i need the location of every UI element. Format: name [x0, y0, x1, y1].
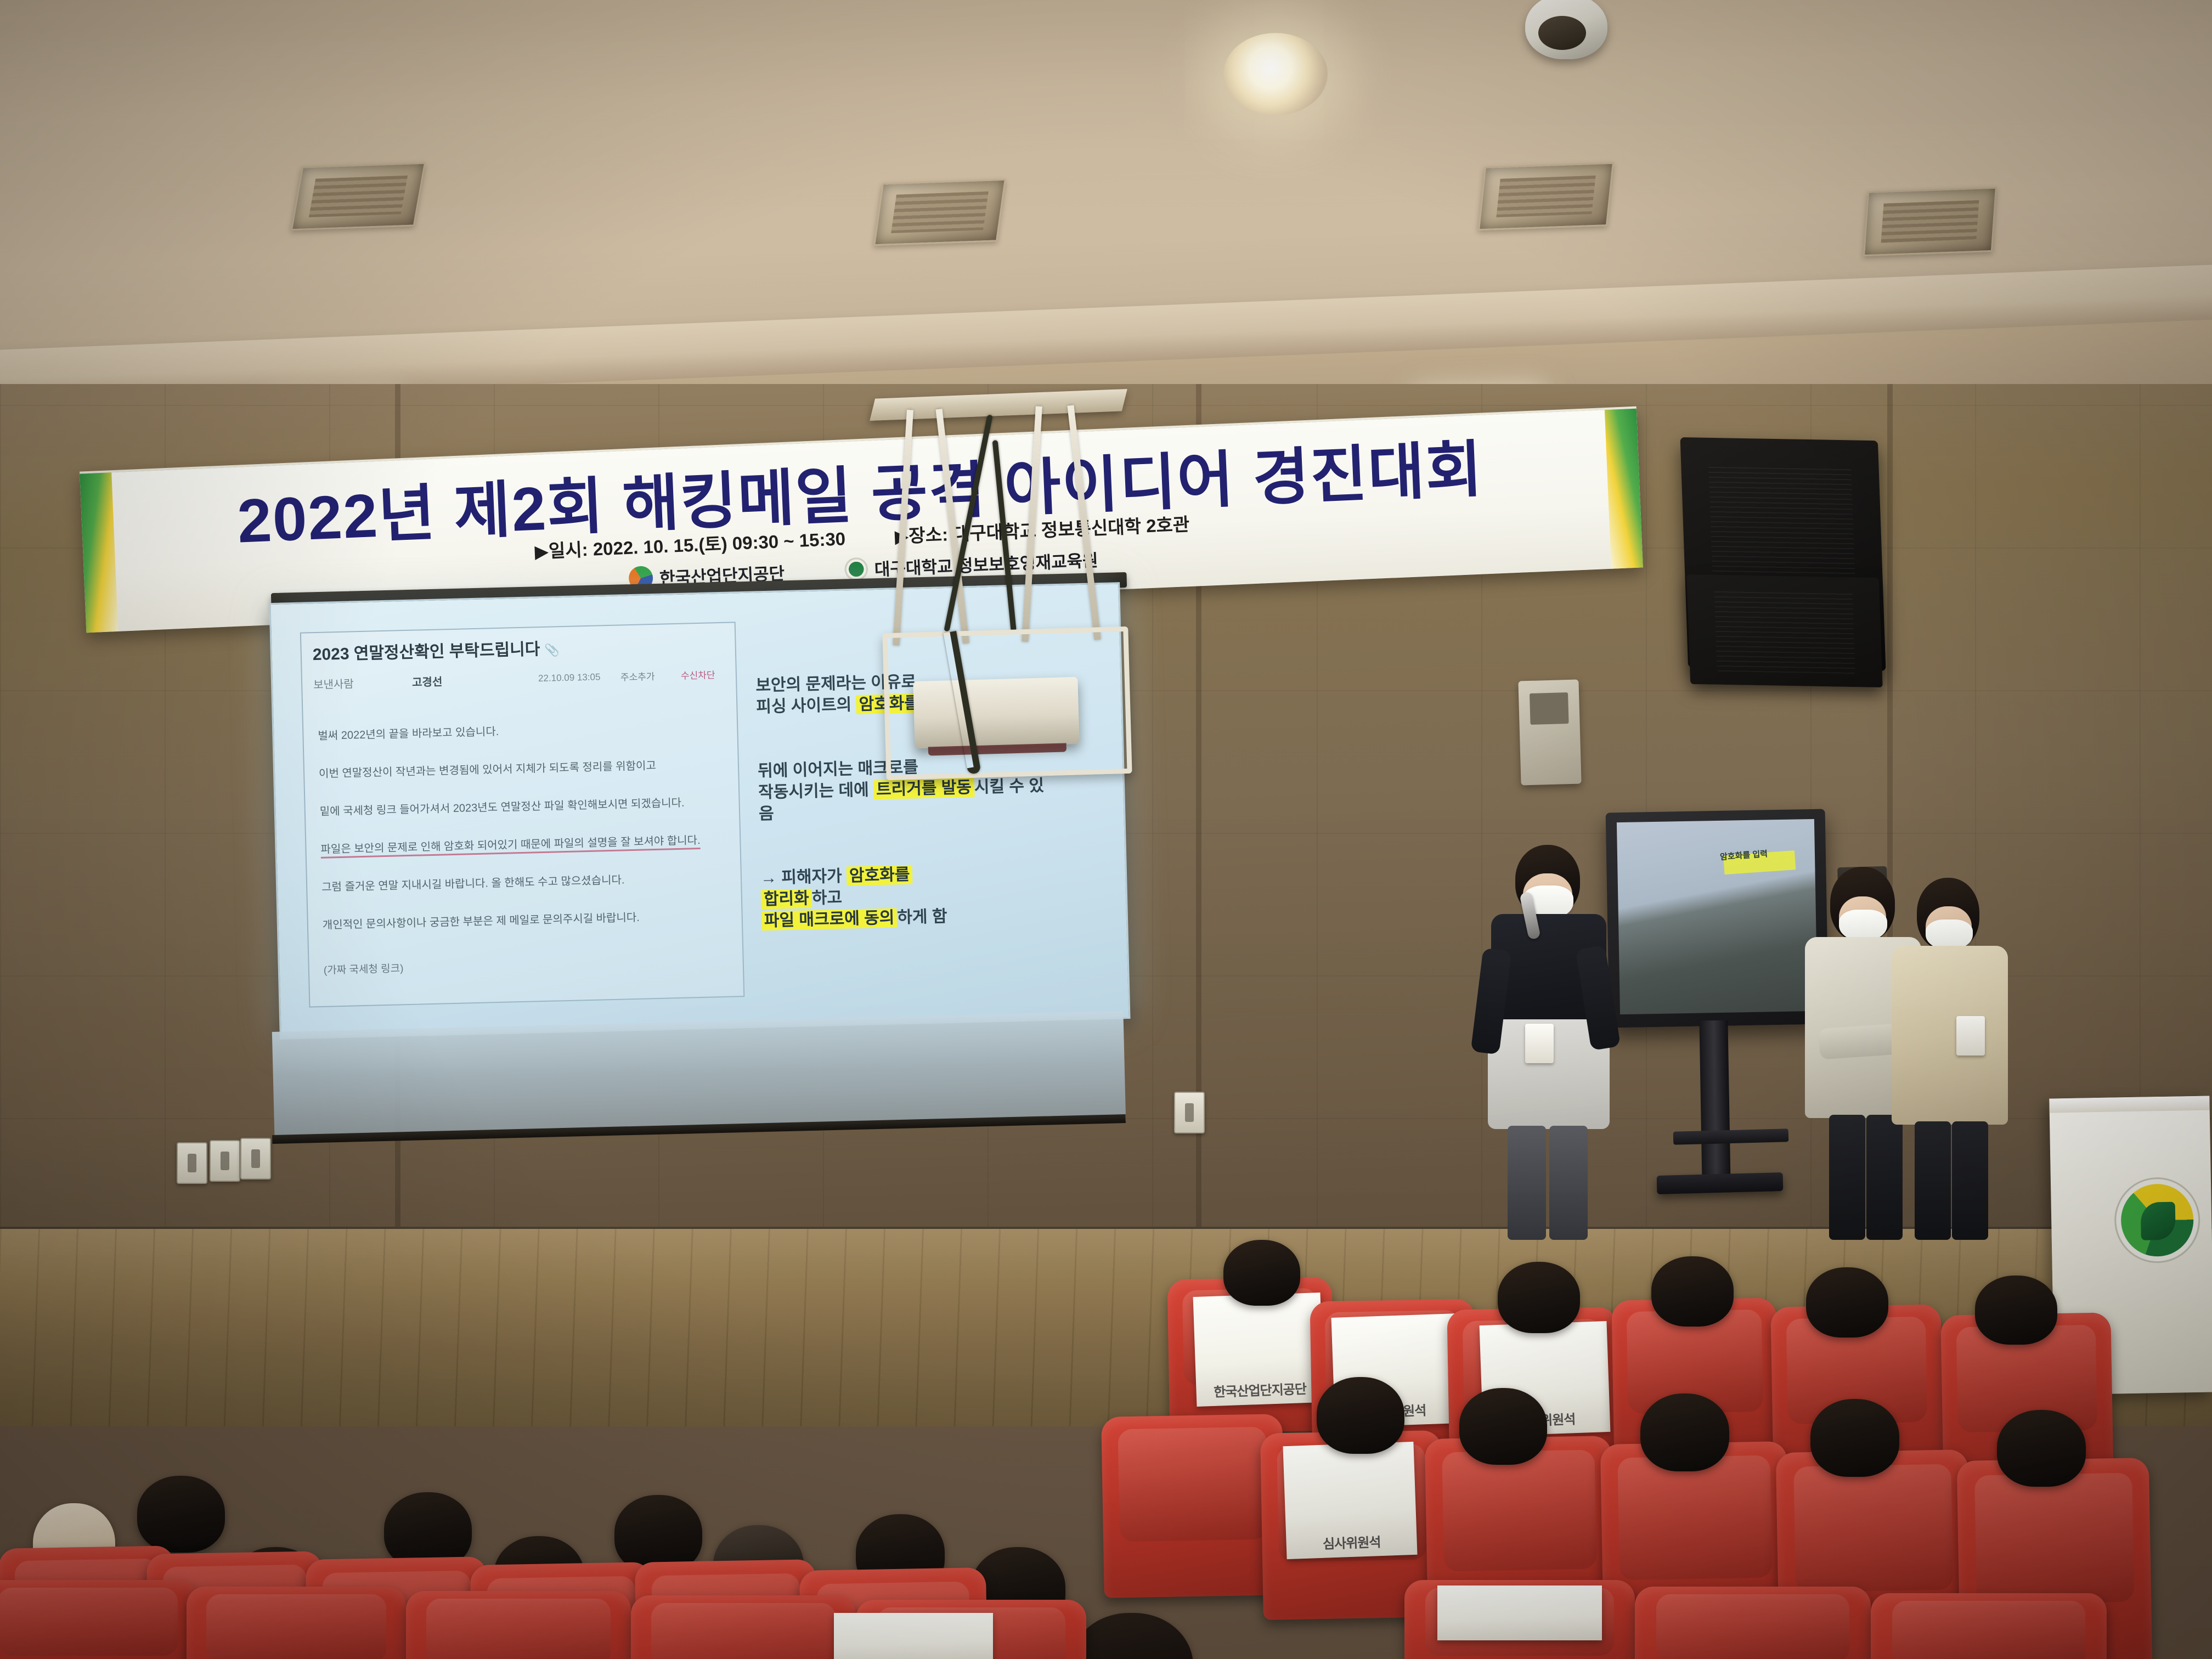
display-stand-pole	[1699, 1020, 1730, 1186]
seat-placard: 한국산업단지공단	[1193, 1293, 1324, 1407]
ac-vent-right	[1478, 162, 1614, 231]
email-body: 벌써 2022년의 끝을 바라보고 있습니다. 이번 연말정산이 작년과는 변경…	[318, 719, 729, 956]
audience-head	[1070, 1613, 1193, 1659]
email-date: 22.10.09 13:05	[538, 671, 620, 684]
note-highlight: 합리화	[761, 889, 812, 909]
email-from-label: 보낸사람	[313, 674, 413, 692]
audience-head	[1317, 1377, 1404, 1454]
seat[interactable]	[1871, 1593, 2107, 1659]
audience-head	[1651, 1256, 1734, 1327]
daegu-university-logo-icon	[844, 557, 868, 581]
email-subject: 2023 연말정산확인 부탁드립니다📎	[312, 635, 560, 665]
podium-top-edge	[2049, 1096, 2209, 1113]
email-body-line-underlined: 파일은 보안의 문제로 인해 암호화 되어있기 때문에 파일의 설명을 잘 보셔…	[320, 833, 726, 857]
line-array-speaker-bottom	[1686, 574, 1882, 687]
audience-head	[1223, 1240, 1300, 1306]
name-badge	[1525, 1024, 1554, 1063]
seat-placard-front	[834, 1613, 993, 1659]
projector-lift-scissor	[885, 404, 1111, 640]
audience-head	[1498, 1262, 1580, 1333]
seat[interactable]	[187, 1587, 406, 1659]
display-stand-base	[1657, 1172, 1784, 1194]
lift-arm	[1067, 405, 1101, 640]
seat[interactable]	[406, 1591, 631, 1659]
arrow-icon: →	[760, 869, 777, 888]
presenter-torso	[1892, 946, 2008, 1125]
seat-placard: 심사위원석	[1283, 1442, 1417, 1559]
ceiling-projector	[913, 677, 1079, 748]
seat[interactable]	[1635, 1587, 1871, 1659]
audience-head	[1810, 1399, 1899, 1477]
block-sender-link[interactable]: 수신차단	[681, 667, 715, 682]
lift-arm	[1022, 406, 1042, 642]
email-body-line: 벌써 2022년의 끝을 바라보고 있습니다.	[318, 719, 724, 744]
seat[interactable]	[1101, 1414, 1285, 1598]
audience-head	[1975, 1276, 2057, 1345]
audience-head	[137, 1476, 225, 1553]
email-sender-name: 고경선	[412, 670, 539, 690]
name-badge	[1956, 1016, 1985, 1056]
ac-vent-far-right	[1863, 187, 1997, 257]
seat-placard-front	[1437, 1585, 1602, 1640]
audience-head	[1459, 1388, 1547, 1465]
dome-security-camera	[1525, 0, 1607, 59]
display-monitor: 암호화를 입력	[1606, 809, 1829, 1028]
wall-av-panel[interactable]	[1518, 680, 1581, 786]
ceiling-downlight-main	[1223, 33, 1328, 115]
wall-plate-2	[210, 1140, 240, 1182]
projector-cable	[992, 440, 1017, 631]
wall-plate-right	[1174, 1092, 1205, 1133]
paperclip-icon: 📎	[544, 643, 560, 657]
note-highlight: 파일 매크로에 동의	[761, 908, 898, 930]
audience-head	[1997, 1410, 2086, 1487]
email-body-line: 이번 연말정산이 작년과는 변경됨에 있어서 지체가 되도록 정리를 위함이고	[319, 757, 725, 782]
wall-plate-3	[240, 1138, 271, 1180]
display-monitor-screen: 암호화를 입력	[1617, 819, 1818, 1014]
presenter-speaking	[1476, 845, 1618, 1240]
note-highlight: 암호화를	[847, 865, 913, 886]
note-block-3: → 피해자가 암호화를 합리화하고 파일 매크로에 동의하게 함	[760, 859, 1113, 932]
email-body-line: 그럼 즐거운 연말 지내시길 바랍니다. 올 한해도 수고 많으셨습니다.	[321, 871, 727, 895]
speaker-grille	[1714, 588, 1855, 674]
email-body-line: 개인적인 문의사항이나 궁금한 부분은 제 메일로 문의주시길 바랍니다.	[323, 909, 729, 933]
phishing-email-card: 2023 연말정산확인 부탁드립니다📎 보낸사람 고경선 22.10.09 13…	[300, 622, 744, 1007]
ac-vent-center	[873, 179, 1006, 246]
audience-seating: 한국산업단지공단 심사위원석 심사위원석 심사위원석	[0, 1196, 2212, 1659]
lift-arm	[893, 410, 913, 646]
ac-vent-left	[291, 162, 426, 231]
seat[interactable]	[0, 1580, 198, 1659]
audience-head	[1806, 1267, 1888, 1338]
add-address-link[interactable]: 주소추가	[620, 668, 681, 684]
wall-plate-1	[177, 1142, 207, 1184]
seat[interactable]	[631, 1595, 856, 1659]
presenter-third	[1887, 878, 2013, 1240]
email-body-line: 밑에 국세청 링크 들어가셔서 2023년도 연말정산 파일 확인해보시면 되겠…	[320, 795, 726, 820]
auditorium-scene: 2022년 제2회 해킹메일 공격 아이디어 경진대회 ▶일시: 2022. 1…	[0, 0, 2212, 1659]
email-signoff: (가짜 국세청 링크)	[324, 960, 404, 977]
note-highlight: 트리거를 발동	[873, 778, 975, 799]
audience-head	[1640, 1393, 1729, 1471]
email-meta-row: 보낸사람 고경선 22.10.09 13:05 주소추가 수신차단	[313, 666, 725, 692]
